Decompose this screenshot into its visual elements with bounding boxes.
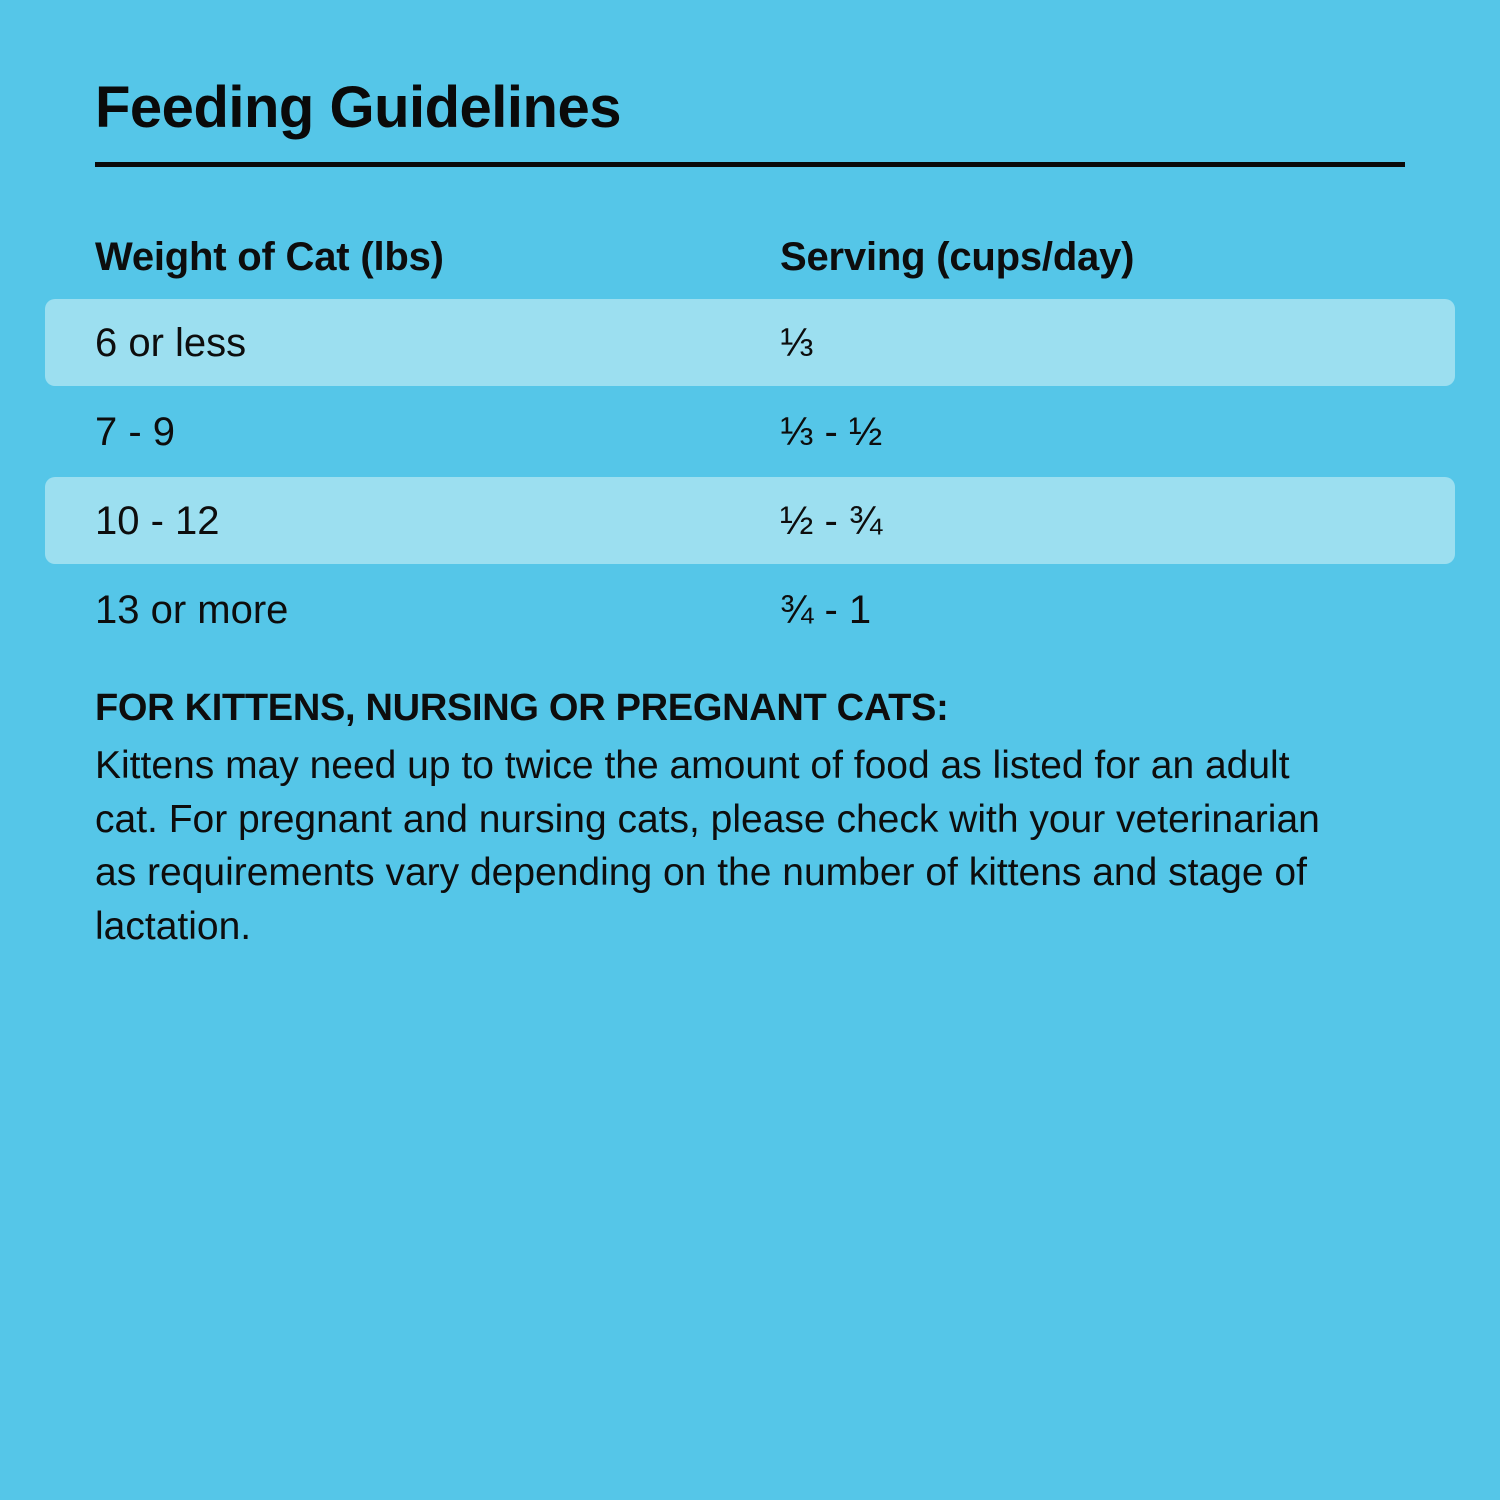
kitten-note-block: FOR KITTENS, NURSING OR PREGNANT CATS: K… [95, 686, 1355, 954]
cell-serving: ⅓ - ½ [780, 412, 882, 452]
feeding-table: Weight of Cat (lbs) Serving (cups/day) 6… [0, 215, 1500, 654]
column-header-serving: Serving (cups/day) [780, 237, 1134, 277]
table-row: 6 or less ⅓ [0, 298, 1500, 387]
cell-serving: ⅓ [780, 323, 813, 363]
cell-serving: ¾ - 1 [780, 590, 871, 630]
cell-weight: 6 or less [95, 323, 246, 363]
title-divider [95, 162, 1405, 167]
table-header-row: Weight of Cat (lbs) Serving (cups/day) [0, 215, 1500, 298]
cell-weight: 13 or more [95, 590, 288, 630]
table-row: 7 - 9 ⅓ - ½ [0, 387, 1500, 476]
kitten-note-body: Kittens may need up to twice the amount … [95, 739, 1325, 954]
column-header-weight: Weight of Cat (lbs) [95, 237, 444, 277]
page-title: Feeding Guidelines [95, 78, 1405, 139]
table-row: 10 - 12 ½ - ¾ [0, 476, 1500, 565]
cell-serving: ½ - ¾ [780, 501, 882, 541]
cell-weight: 10 - 12 [95, 501, 220, 541]
title-block: Feeding Guidelines [95, 78, 1405, 167]
row-highlight-band [45, 299, 1455, 386]
cell-weight: 7 - 9 [95, 412, 175, 452]
row-highlight-band [45, 477, 1455, 564]
kitten-note-heading: FOR KITTENS, NURSING OR PREGNANT CATS: [95, 686, 1355, 731]
table-row: 13 or more ¾ - 1 [0, 565, 1500, 654]
feeding-guidelines-panel: Feeding Guidelines Weight of Cat (lbs) S… [0, 0, 1500, 1500]
